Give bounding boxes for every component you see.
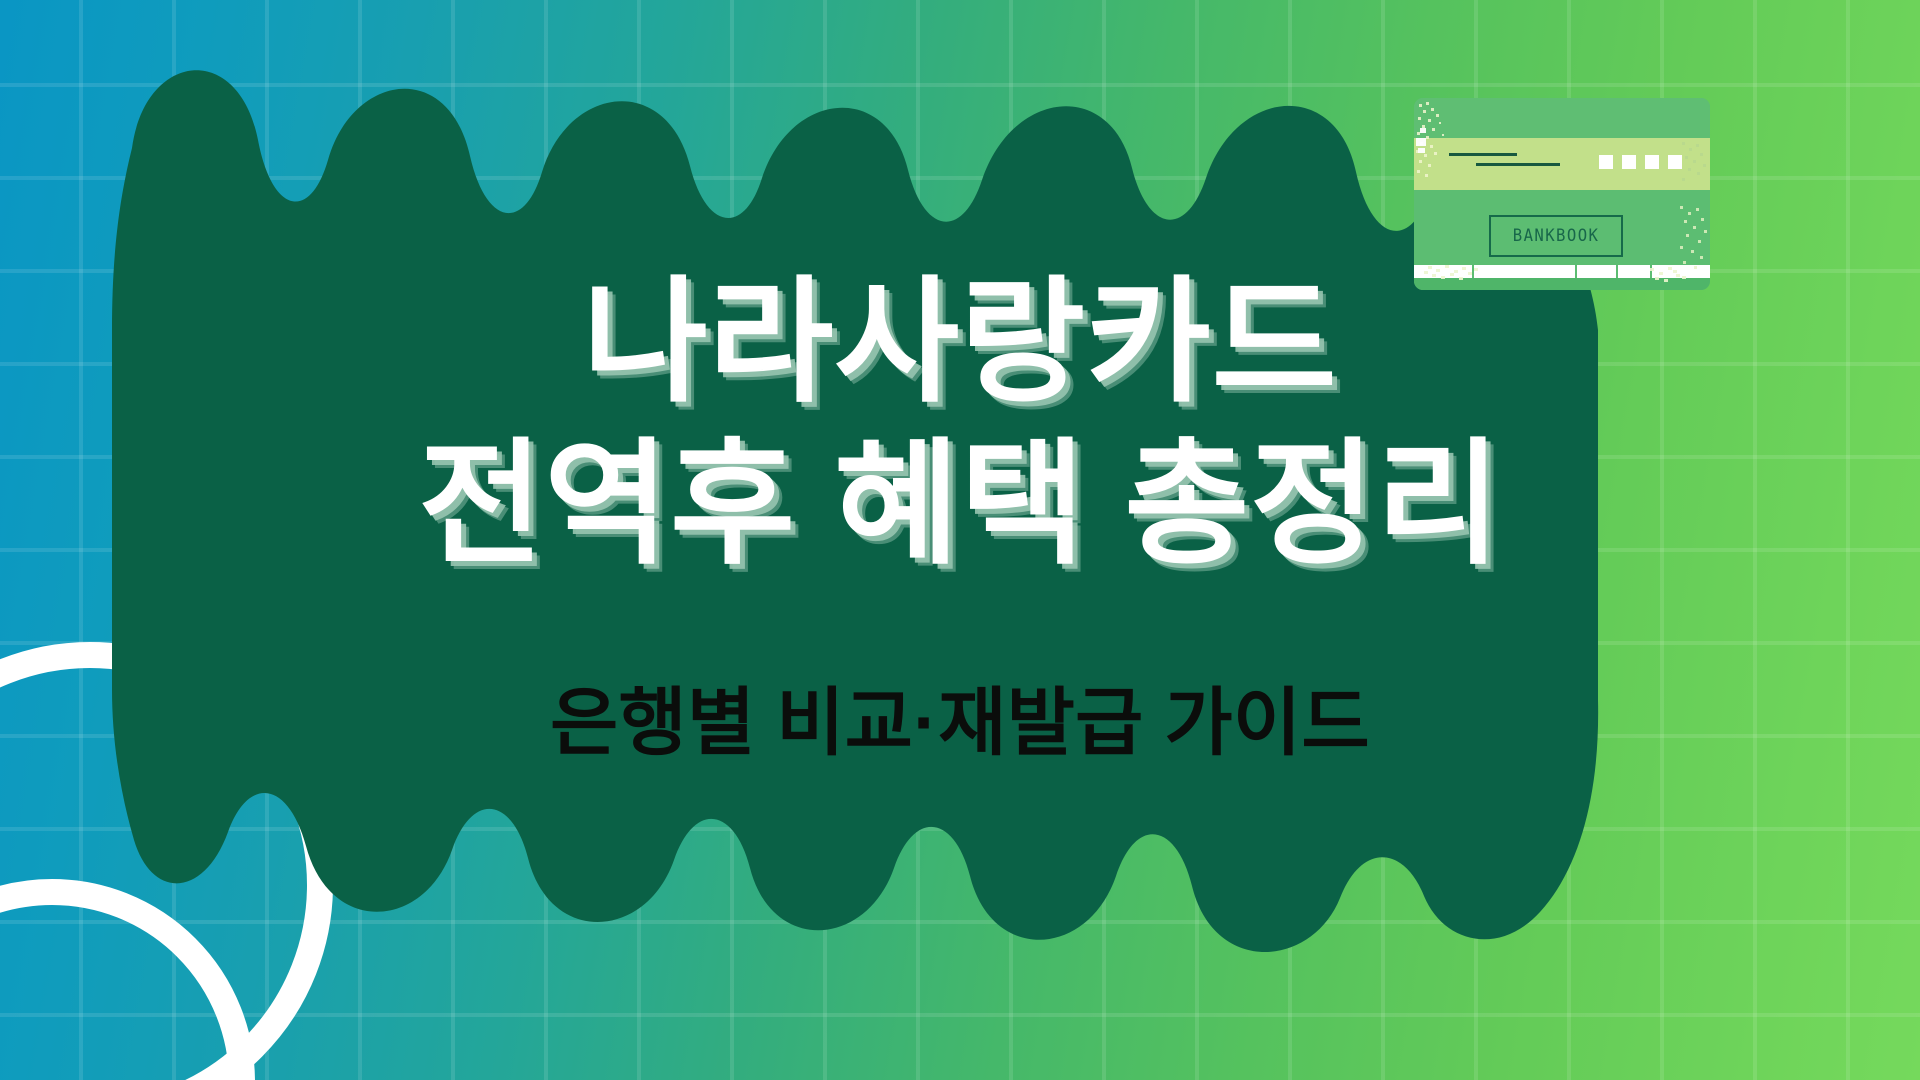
bankbook-strip-cell — [1414, 265, 1474, 278]
title-line-2: 전역후 혜택 총정리 — [0, 424, 1920, 586]
bankbook-top-band — [1414, 98, 1710, 138]
bankbook-label-box: BANKBOOK — [1489, 215, 1623, 257]
bankbook-strip-cell — [1618, 265, 1652, 278]
bankbook-illustration: BANKBOOK — [1414, 98, 1710, 290]
bankbook-rule-line-2 — [1476, 163, 1560, 166]
bankbook-bottom-strip — [1414, 265, 1710, 278]
bankbook-bottom-band — [1414, 278, 1710, 290]
bankbook-strip-cell — [1652, 265, 1710, 278]
bankbook-square-marker — [1645, 155, 1659, 169]
bankbook-square-marker — [1599, 155, 1613, 169]
page-title: 나라사랑카드 전역후 혜택 총정리 — [0, 262, 1920, 586]
bankbook-rule-line-1 — [1449, 153, 1517, 156]
bankbook-square-marker — [1668, 155, 1682, 169]
page-subtitle: 은행별 비교·재발급 가이드 — [0, 682, 1920, 763]
bankbook-square-markers — [1599, 155, 1682, 169]
thumbnail-canvas: 나라사랑카드 전역후 혜택 총정리 은행별 비교·재발급 가이드 BANKBOO… — [0, 0, 1920, 1080]
bankbook-strip-cell — [1577, 265, 1619, 278]
bankbook-square-marker — [1622, 155, 1636, 169]
bankbook-strip-cell — [1474, 265, 1576, 278]
bankbook-label-text: BANKBOOK — [1513, 226, 1600, 246]
